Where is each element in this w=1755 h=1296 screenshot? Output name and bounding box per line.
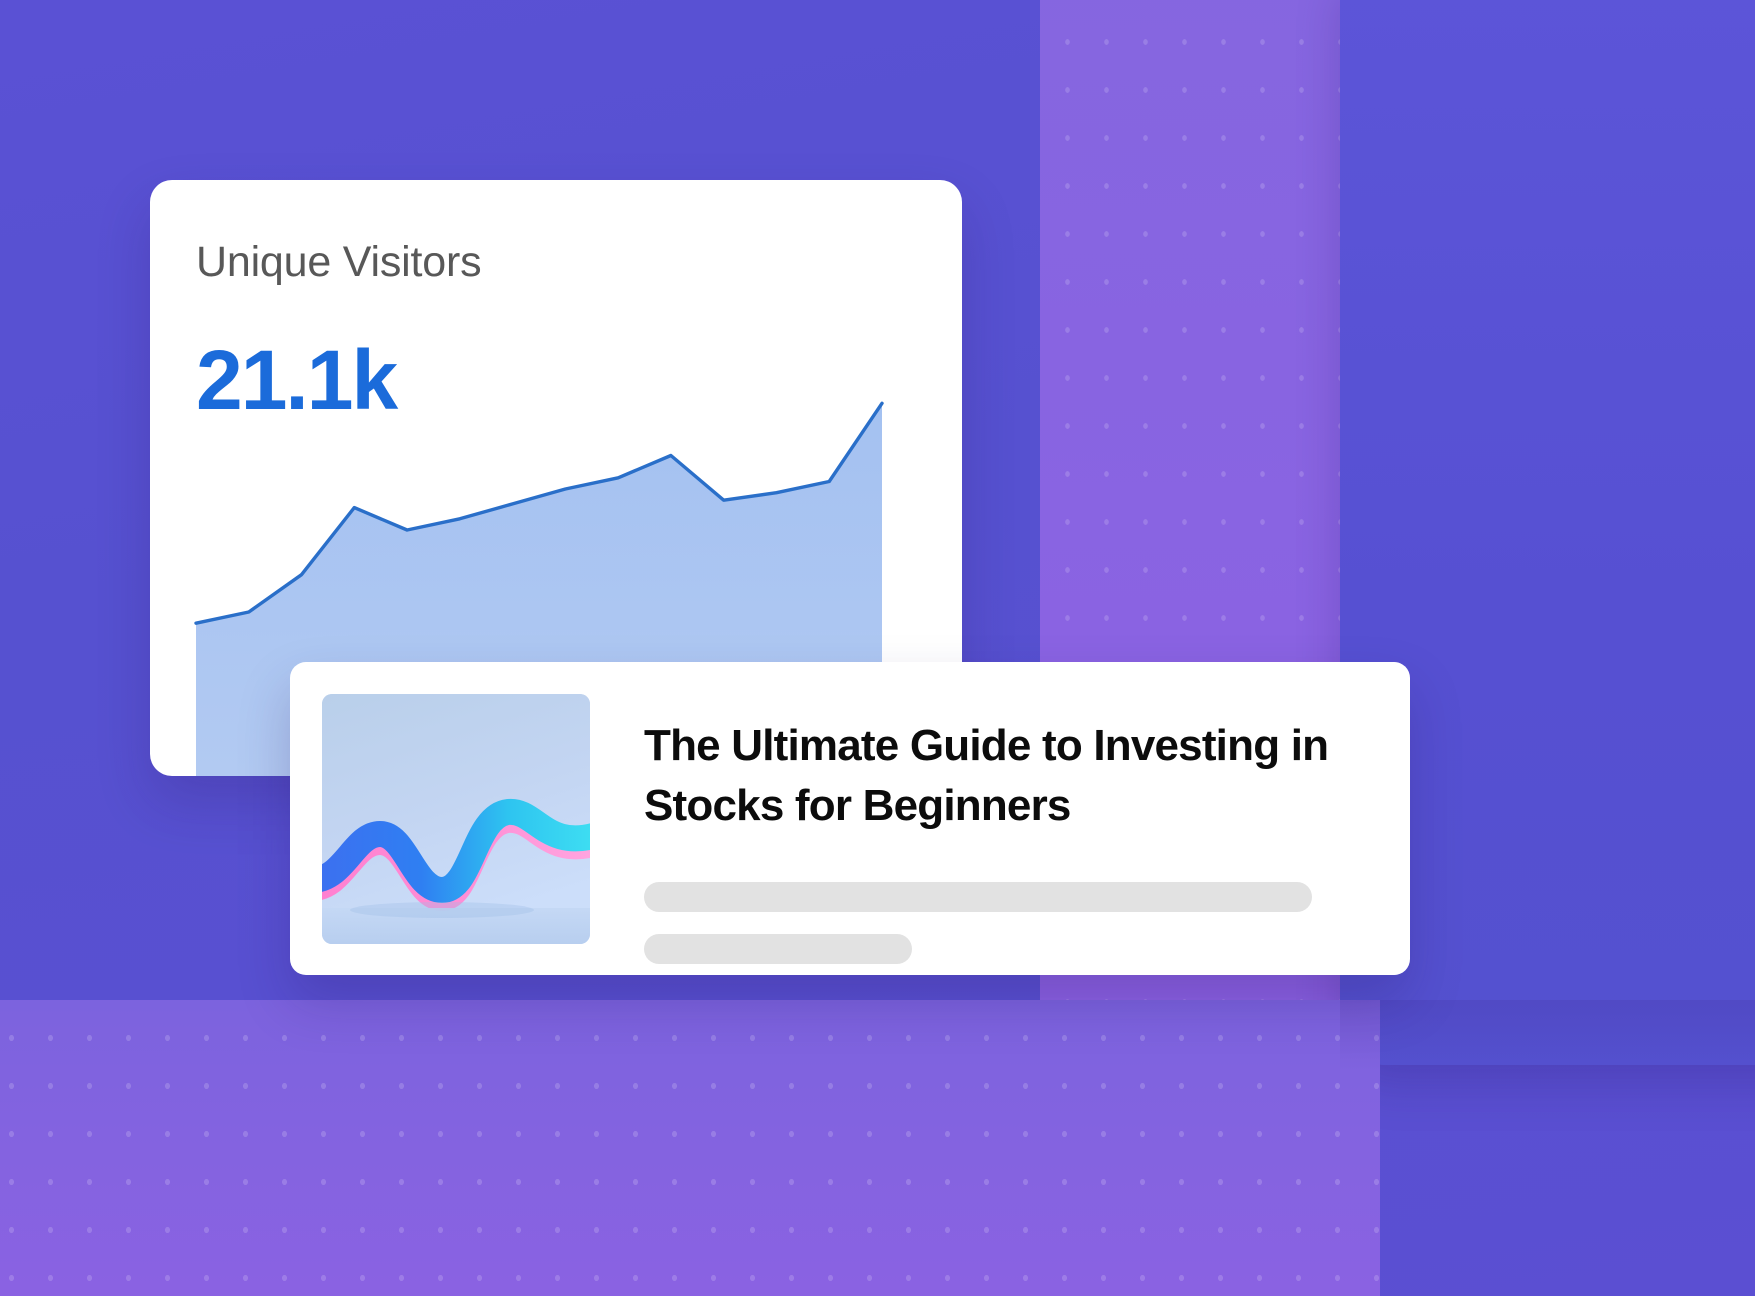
abstract-wave-graphic-icon bbox=[322, 694, 590, 944]
article-skeleton-placeholder bbox=[644, 882, 1378, 964]
article-card[interactable]: The Ultimate Guide to Investing in Stock… bbox=[290, 662, 1410, 975]
skeleton-bar-primary bbox=[644, 882, 1312, 912]
skeleton-bar-secondary bbox=[644, 934, 912, 964]
background-panel-shadow bbox=[1340, 1000, 1755, 1070]
article-title: The Ultimate Guide to Investing in Stock… bbox=[644, 716, 1378, 836]
background-dotted-bottom-band bbox=[0, 1000, 1380, 1296]
unique-visitors-title: Unique Visitors bbox=[196, 238, 481, 287]
article-thumbnail[interactable] bbox=[322, 694, 590, 944]
article-content: The Ultimate Guide to Investing in Stock… bbox=[644, 694, 1378, 964]
